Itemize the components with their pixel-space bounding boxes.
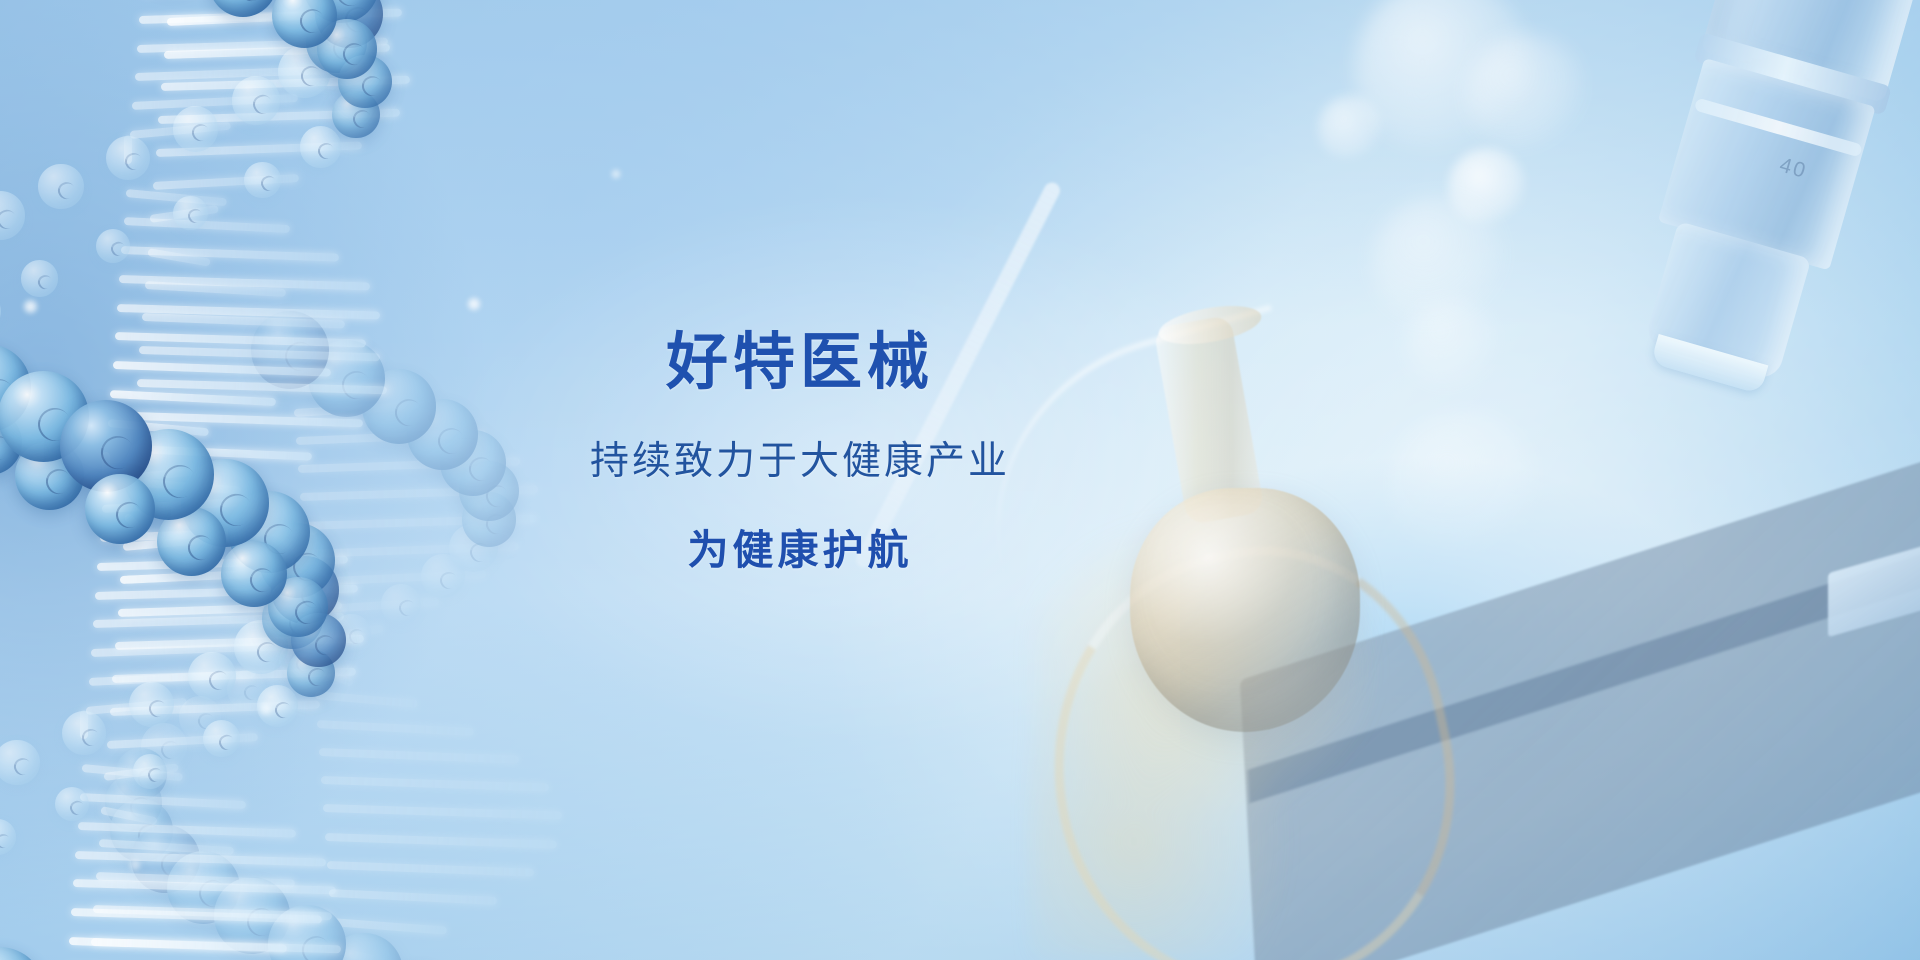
flask-bowl (1130, 488, 1360, 732)
page-title: 好特医械 (520, 330, 1080, 395)
hero-banner: 40 好特医械 持续致力于大健康产业 为健康护航 (0, 0, 1920, 960)
hero-text-block: 好特医械 持续致力于大健康产业 为健康护航 (520, 330, 1080, 573)
laboratory-flask (1020, 300, 1640, 960)
hero-tagline: 为健康护航 (520, 528, 1080, 573)
hero-subtitle: 持续致力于大健康产业 (520, 441, 1080, 484)
